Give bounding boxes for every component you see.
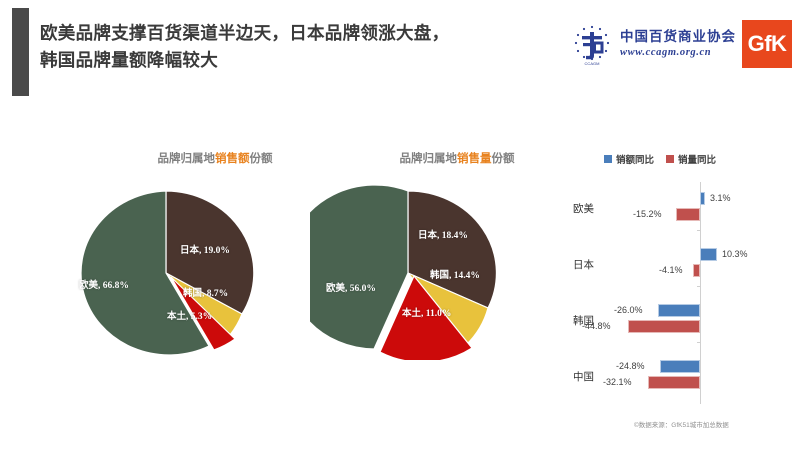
pie2-label-korea: 韩国, 14.4% <box>430 267 480 281</box>
axis-tick-1 <box>697 230 700 231</box>
bar-category-china: 中国 <box>554 369 594 384</box>
pie1-title: 品牌归属地销售额份额 <box>95 150 335 166</box>
ccagm-emblem-icon: CCAGM <box>569 21 615 67</box>
title-line-2: 韩国品牌量额降幅较大 <box>40 47 550 74</box>
pie1-label-japan: 日本, 19.0% <box>180 242 230 256</box>
bar-euus-volume-label: -15.2% <box>633 209 662 219</box>
page-title: 欧美品牌支撑百货渠道半边天，日本品牌领涨大盘， 韩国品牌量额降幅较大 <box>40 20 550 74</box>
legend-swatch-value-icon <box>604 155 612 163</box>
pie1-label-euus: 欧美, 66.8% <box>79 277 129 291</box>
title-line-1: 欧美品牌支撑百货渠道半边天，日本品牌领涨大盘， <box>40 20 550 47</box>
bar-japan-volume-label: -4.1% <box>659 265 683 275</box>
bar-korea-value-label: -26.0% <box>614 305 643 315</box>
pie1-title-post: 份额 <box>250 153 273 165</box>
legend-label-volume: 销量同比 <box>678 152 716 166</box>
legend-item-volume[interactable]: 销量同比 <box>666 152 716 166</box>
ccagm-text-block: 中国百货商业协会 www.ccagm.org.cn <box>620 30 736 58</box>
gfk-label: GfK <box>748 31 787 57</box>
bar-korea-volume-label: -44.8% <box>582 321 611 331</box>
pie1-label-local: 本土, 5.3% <box>167 308 212 322</box>
bar-euus-volume[interactable] <box>676 208 700 221</box>
legend-item-value[interactable]: 销额同比 <box>604 152 654 166</box>
pie-chart-sales-value: 日本, 19.0% 韩国, 8.7% 本土, 5.3% 欧美, 66.8% <box>68 185 268 360</box>
pie2-title-post: 份额 <box>492 153 515 165</box>
bar-china-value[interactable] <box>660 360 700 373</box>
ccagm-logo: CCAGM 中国百货商业协会 www.ccagm.org.cn <box>569 21 736 67</box>
gfk-logo: GfK <box>742 20 792 68</box>
ccagm-url[interactable]: www.ccagm.org.cn <box>620 47 736 59</box>
bar-chart-legend: 销额同比 销量同比 <box>604 152 716 166</box>
bar-china-volume-label: -32.1% <box>603 377 632 387</box>
bar-china-volume[interactable] <box>648 376 700 389</box>
bar-korea-value[interactable] <box>658 304 700 317</box>
bar-korea-volume[interactable] <box>628 320 700 333</box>
ccagm-name: 中国百货商业协会 <box>620 30 736 45</box>
legend-swatch-volume-icon <box>666 155 674 163</box>
svg-text:CCAGM: CCAGM <box>585 61 600 66</box>
bar-china-value-label: -24.8% <box>616 361 645 371</box>
pie2-title-highlight: 销售量 <box>457 153 492 165</box>
pie1-title-highlight: 销售额 <box>215 153 250 165</box>
bar-euus-value[interactable] <box>700 192 705 205</box>
pie-chart-sales-volume: 日本, 18.4% 韩国, 14.4% 本土, 11.0% 欧美, 56.0% <box>310 185 510 360</box>
bar-chart-yoy: 欧美 日本 韩国 中国 3.1% -15.2% 10.3% -4.1% -26.… <box>558 178 798 406</box>
pie2-label-local: 本土, 11.0% <box>402 305 451 319</box>
bar-japan-value-label: 10.3% <box>722 249 748 259</box>
zero-axis-line <box>700 182 701 404</box>
pie2-title-pre: 品牌归属地 <box>400 153 458 165</box>
pie2-label-japan: 日本, 18.4% <box>418 227 468 241</box>
bar-japan-volume[interactable] <box>693 264 700 277</box>
axis-tick-2 <box>697 286 700 287</box>
bar-japan-value[interactable] <box>700 248 717 261</box>
pie2-title: 品牌归属地销售量份额 <box>337 150 577 166</box>
data-source-footnote: ©数据来源：GfK51城市加总数据 <box>634 419 729 429</box>
pie1-label-korea: 韩国, 8.7% <box>183 285 228 299</box>
pie2-label-euus: 欧美, 56.0% <box>326 280 376 294</box>
bar-category-euus: 欧美 <box>554 201 594 216</box>
axis-tick-3 <box>697 342 700 343</box>
slide-canvas: 欧美品牌支撑百货渠道半边天，日本品牌领涨大盘， 韩国品牌量额降幅较大 <box>0 0 800 450</box>
bar-euus-value-label: 3.1% <box>710 193 731 203</box>
bar-category-japan: 日本 <box>554 257 594 272</box>
legend-label-value: 销额同比 <box>616 152 654 166</box>
pie1-title-pre: 品牌归属地 <box>158 153 216 165</box>
title-accent-bar <box>12 8 29 96</box>
logo-group: CCAGM 中国百货商业协会 www.ccagm.org.cn GfK <box>569 18 792 70</box>
